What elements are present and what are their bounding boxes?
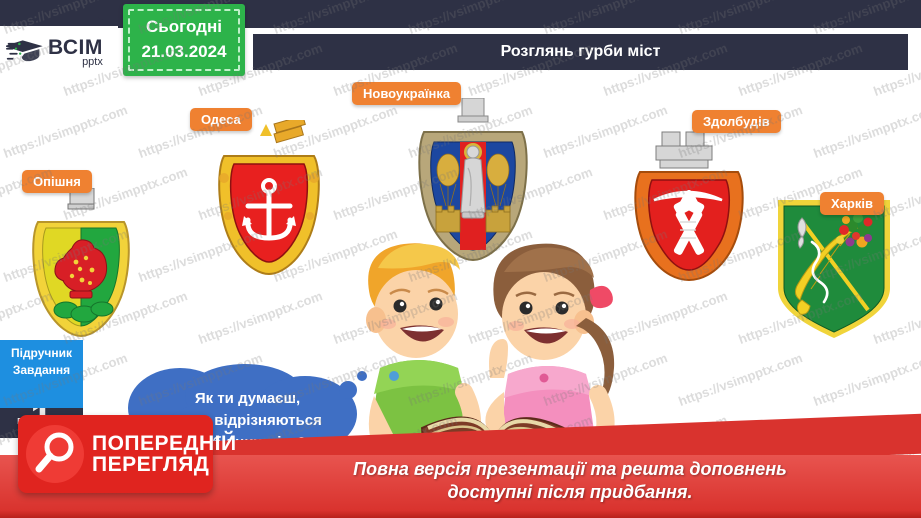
slide-title-bar: Розглянь гурби міст [253,34,908,70]
watermark-text: https://vsimpptx.com [196,288,324,347]
magnifier-icon [26,425,84,483]
date-badge-label: Сьогодні [146,15,222,40]
purchase-banner-text: Повна версія презентації та решта доповн… [225,458,915,504]
coat-of-arms-kharkiv [772,198,896,340]
date-badge: Сьогодні 21.03.2024 [123,4,245,76]
brand-logo: ВСІМ pptx [0,26,118,78]
watermark-text: https://vsimpptx.com [676,350,804,409]
logo-wordmark: ВСІМ [48,37,103,58]
watermark-text: https://vsimpptx.com [1,102,129,161]
task-label: Завдання [0,363,83,377]
textbook-task-box: Підручник Завдання [0,340,83,408]
city-label-kharkiv: Харків [820,192,884,215]
page-title: Розглянь гурби міст [501,43,661,61]
banner-line-2: доступні після придбання. [225,481,915,504]
date-badge-date: 21.03.2024 [141,40,226,65]
preview-stamp: ПОПЕРЕДНІЙ ПЕРЕГЛЯД [18,415,213,493]
coat-of-arms-opishnia [22,188,140,340]
city-label-opishnia: Опішня [22,170,92,193]
watermark-text: https://vsimpptx.com [811,102,921,161]
coat-of-arms-odesa [208,120,330,280]
city-label-novoukrainka: Новоукраїнка [352,82,461,105]
preview-stamp-line-1: ПОПЕРЕДНІЙ [92,433,237,454]
city-label-zdolbuniv: Здолбудів [692,110,781,133]
watermark-text: https://vsimpptx.com [811,350,921,409]
preview-stamp-line-2: ПЕРЕГЛЯД [92,454,237,475]
graduation-cap-icon [6,36,46,68]
city-label-odesa: Одеса [190,108,252,131]
slide-canvas: ВСІМ pptx Сьогодні 21.03.2024 Розглянь г… [0,0,921,518]
textbook-label: Підручник [0,346,83,360]
banner-line-1: Повна версія презентації та решта доповн… [225,458,915,481]
